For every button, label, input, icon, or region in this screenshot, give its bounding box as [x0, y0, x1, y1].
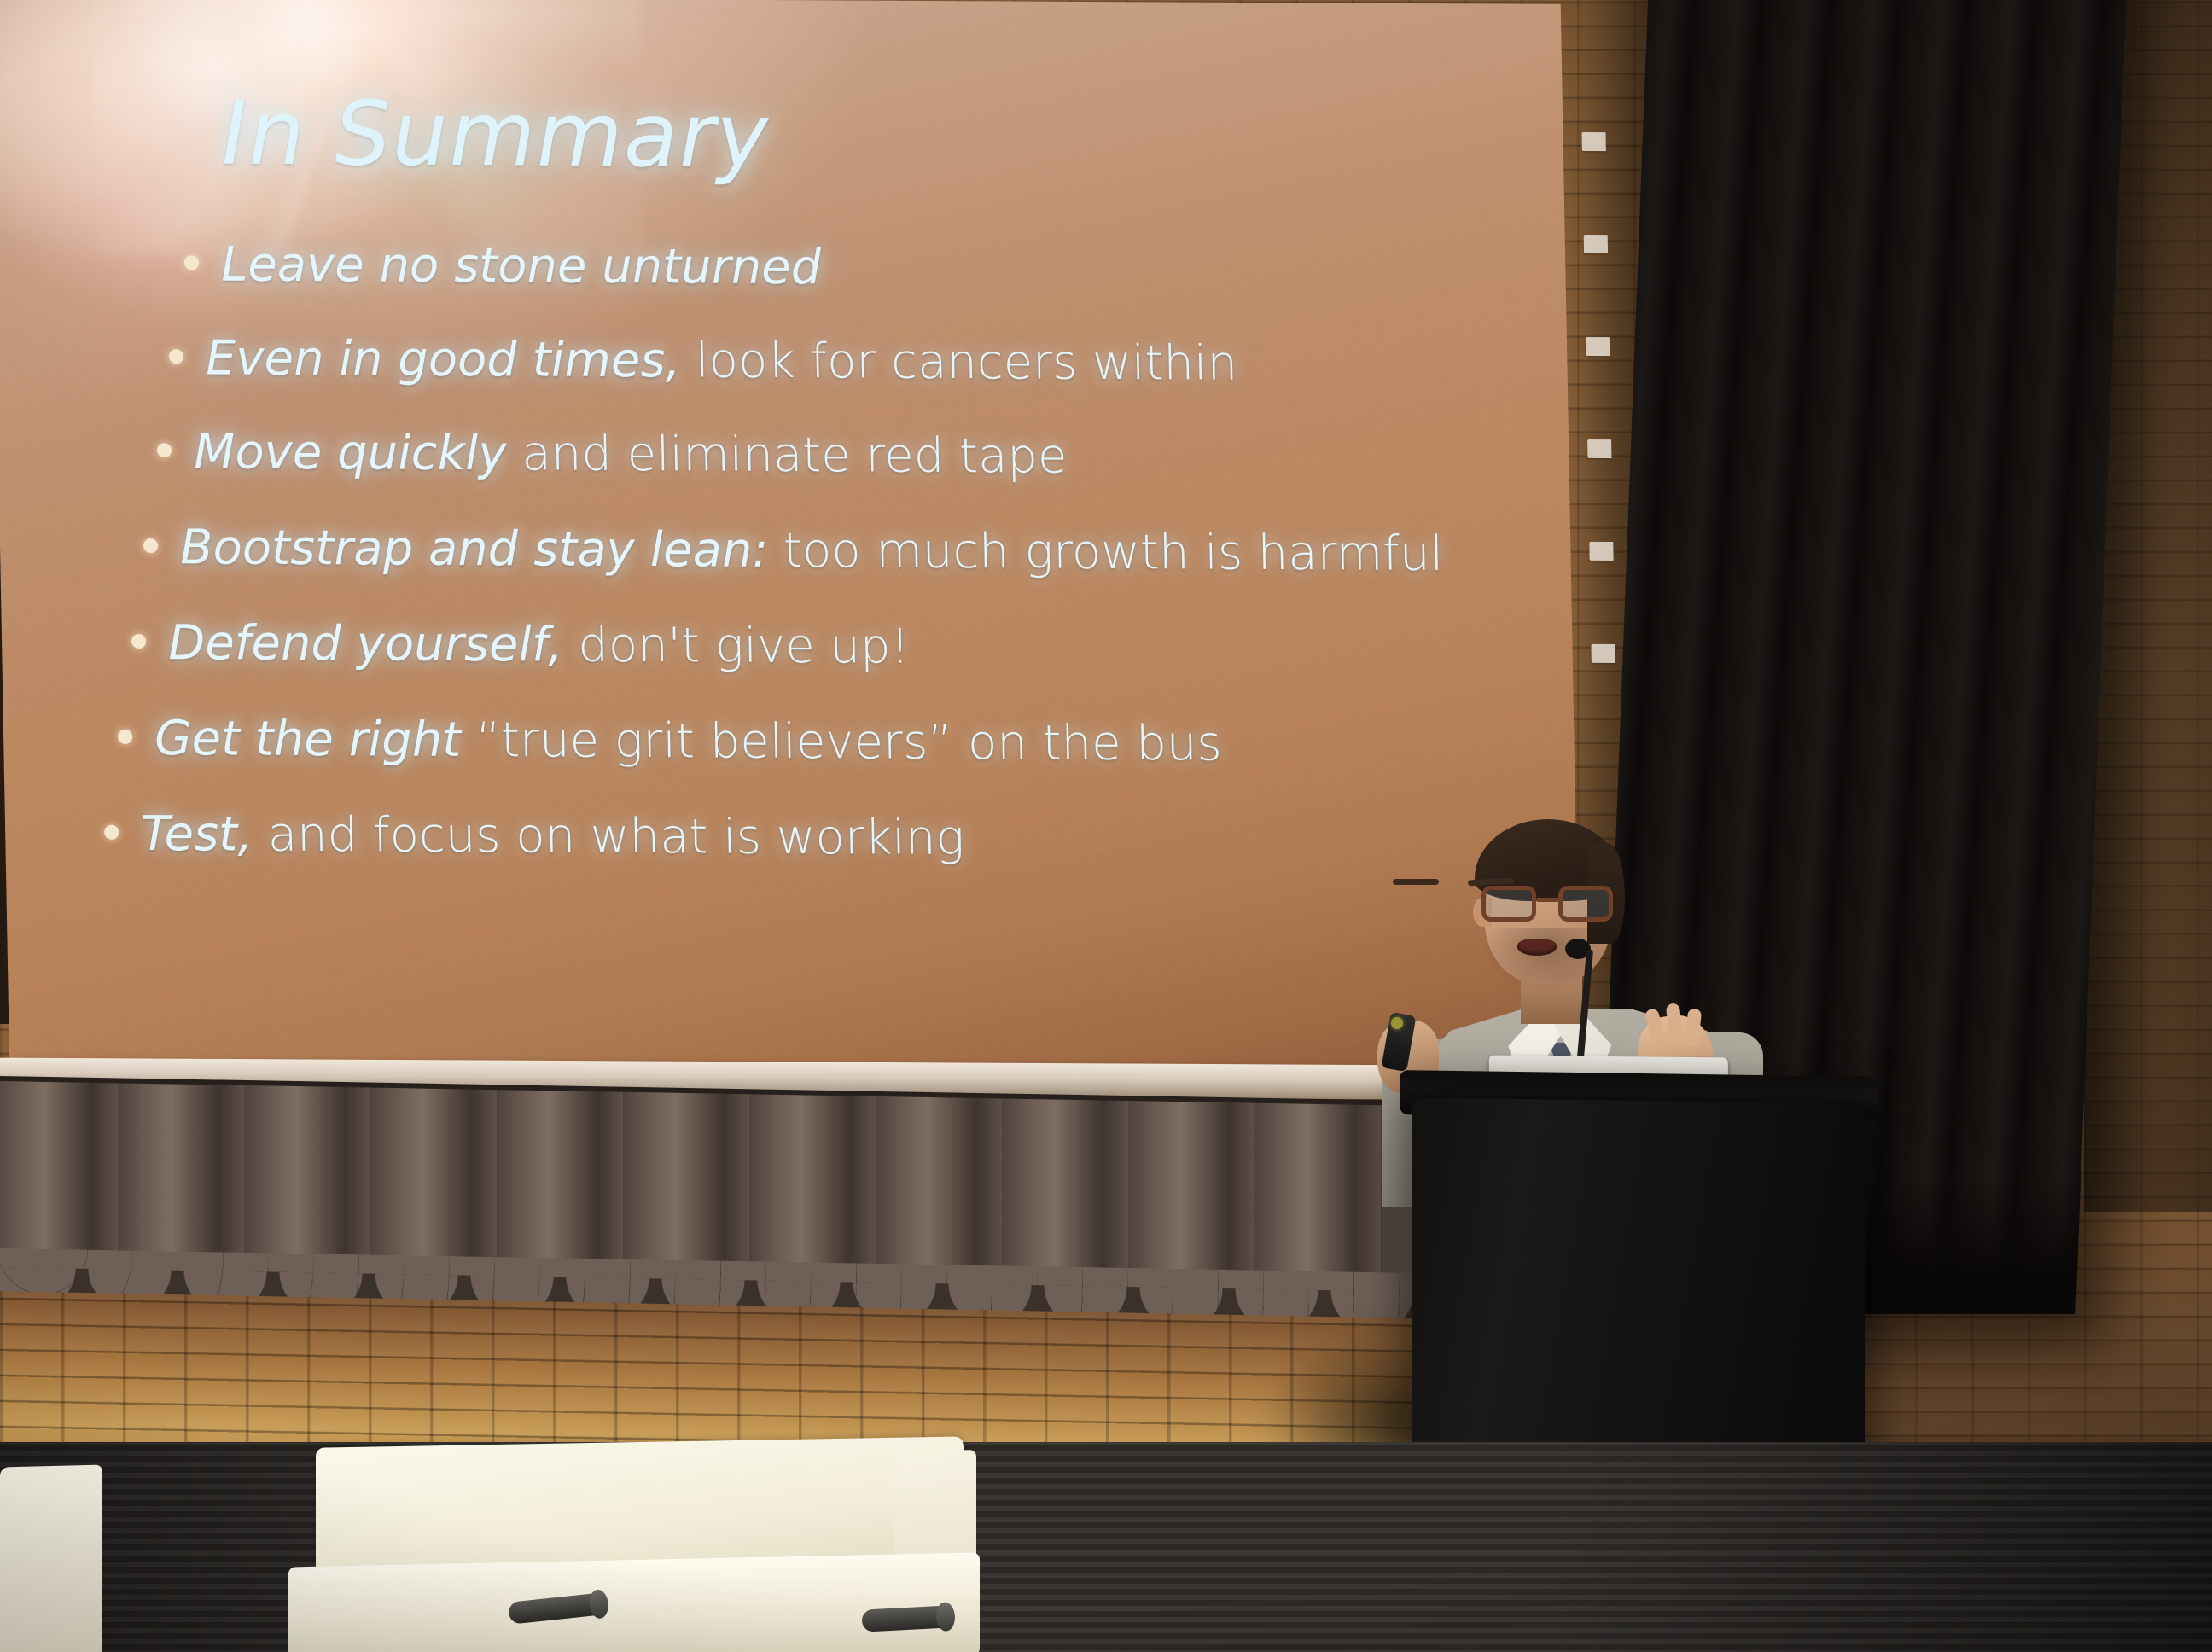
projection-screen: In Summary Leave no stone unturned Even … [0, 0, 1623, 1105]
armchair-secondary [0, 1465, 102, 1652]
conference-photo-scene: In Summary Leave no stone unturned Even … [0, 0, 2212, 1652]
eyeglasses-icon [1476, 886, 1623, 923]
screen-surface [0, 0, 1580, 1071]
armchair-seat [288, 1553, 980, 1652]
speaker-finger [1666, 1003, 1684, 1041]
speaker-mouth [1517, 939, 1557, 956]
clicker-led-icon [1391, 1017, 1403, 1029]
handheld-microphone-icon [861, 1605, 951, 1632]
speaker-eyebrow-left [1393, 879, 1439, 885]
